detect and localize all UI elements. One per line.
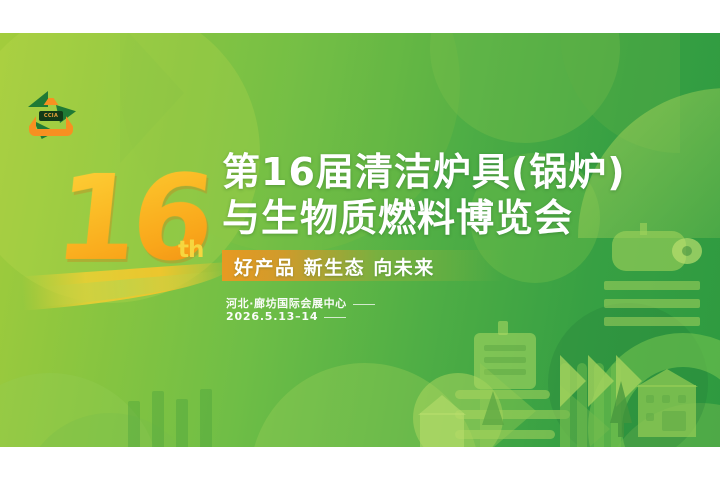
edition-ordinal-suffix: th: [178, 237, 203, 263]
chevron-right-icon: [616, 355, 642, 407]
boiler-valve-icon: [682, 246, 692, 256]
title-line-2: 与生物质燃料博览会: [222, 195, 642, 241]
decor-hill-right: [600, 403, 720, 447]
factory-chimney-icon: [498, 321, 508, 335]
edition-number: 16 th: [56, 159, 231, 284]
arrow-right-large: [480, 363, 536, 447]
sun-ray: [455, 410, 570, 419]
house-icon: [638, 385, 696, 437]
decor-bar: [128, 401, 140, 447]
decor-dark-disc: [548, 303, 708, 447]
venue-text: 河北·廊坊国际会展中心: [226, 295, 375, 311]
decor-hill-left-inner: [20, 413, 200, 447]
sun-icon: [413, 373, 503, 447]
edition-number-digits: 16: [50, 159, 237, 277]
logo-chip: CCIA: [39, 111, 63, 121]
tree-trunk-icon: [618, 423, 624, 437]
decor-bar: [200, 389, 212, 447]
date-text: 2026.5.13–14: [226, 310, 346, 323]
date-label: 2026.5.13–14: [226, 310, 318, 323]
decor-circle-top-right: [430, 33, 620, 143]
decor-chevron-large: [120, 33, 184, 163]
decor-line: [604, 299, 700, 308]
logo-chip-text: CCIA: [44, 114, 58, 119]
chevron-right-icon: [560, 355, 586, 407]
sun-ray: [455, 430, 555, 439]
chevron-right-icon: [588, 355, 614, 407]
house-icon: [420, 413, 464, 447]
exhibition-poster: CCIA 16 th 第16届清洁炉具(锅炉) 与生物质燃料博览会 好产品 新生…: [0, 0, 720, 480]
date-rule: [324, 317, 346, 318]
decor-hill-left: [0, 373, 160, 447]
page-title: 第16届清洁炉具(锅炉) 与生物质燃料博览会: [222, 149, 642, 241]
slogan-text: 好产品 新生态 向未来: [234, 253, 435, 279]
decor-bar: [152, 391, 164, 447]
boiler-cap-icon: [672, 238, 702, 264]
decor-hill-center: [250, 363, 480, 447]
factory-icon: [474, 333, 536, 389]
decor-line: [604, 317, 700, 326]
house-roof-icon: [636, 369, 698, 387]
decor-bar: [176, 399, 188, 447]
decor-quarter-circle-back: [560, 33, 680, 153]
poster-artwork: CCIA 16 th 第16届清洁炉具(锅炉) 与生物质燃料博览会 好产品 新生…: [0, 33, 720, 447]
sun-ray: [455, 390, 550, 399]
tree-icon: [482, 391, 504, 425]
venue-label: 河北·廊坊国际会展中心: [226, 297, 347, 310]
decor-ring: [588, 333, 720, 447]
title-line-1: 第16届清洁炉具(锅炉): [222, 149, 642, 195]
organizer-logo[interactable]: CCIA: [22, 89, 80, 141]
tree-icon: [610, 381, 632, 423]
house-roof-icon: [418, 395, 466, 415]
arrow-right-large: [560, 385, 610, 447]
pipe-group-icon: [560, 363, 638, 447]
decor-line: [604, 281, 700, 290]
venue-rule: [353, 304, 375, 305]
